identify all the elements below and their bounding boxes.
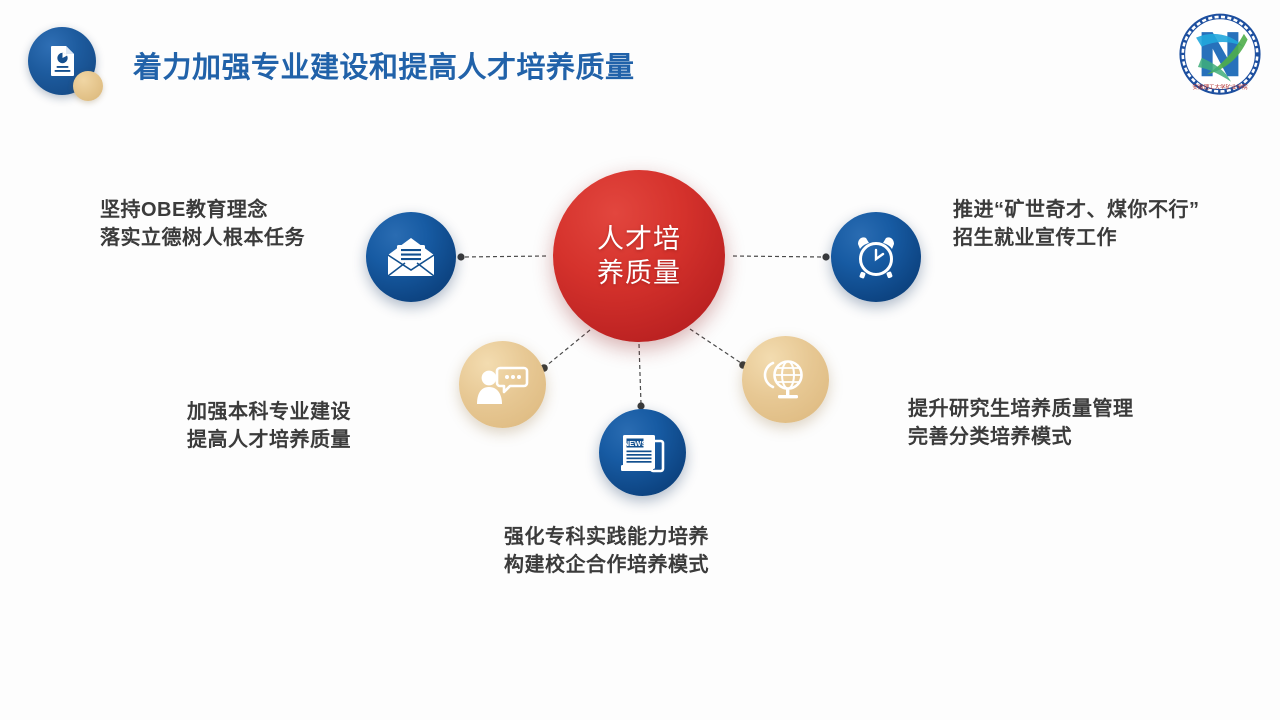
hub-spoke-diagram: 人才培 养质量	[0, 0, 1280, 720]
node-globe-stand[interactable]	[742, 336, 829, 423]
envelope-mail-icon	[386, 236, 436, 278]
newspaper-masthead-text: NEWS	[623, 439, 646, 448]
caption-lower-right: 提升研究生培养质量管理 完善分类培养模式	[908, 395, 1134, 452]
node-alarm-clock[interactable]	[831, 212, 921, 302]
caption-left: 坚持OBE教育理念 落实立德树人根本任务	[100, 196, 305, 253]
alarm-clock-icon	[852, 233, 900, 281]
globe-stand-icon	[763, 357, 809, 403]
center-node-talent-quality[interactable]: 人才培 养质量	[553, 170, 725, 342]
report-document-icon	[50, 45, 76, 76]
node-person-speech[interactable]	[459, 341, 546, 428]
person-speech-bubble-icon	[477, 364, 529, 406]
center-node-label: 人才培 养质量	[597, 222, 681, 290]
node-newspaper[interactable]: NEWS	[599, 409, 686, 496]
caption-right: 推进“矿世奇才、煤你不行” 招生就业宣传工作	[953, 196, 1200, 253]
caption-bottom: 强化专科实践能力培养 构建校企合作培养模式	[504, 523, 709, 580]
connector-lines	[0, 0, 1280, 720]
caption-lower-left: 加强本科专业建设 提高人才培养质量	[187, 398, 351, 455]
slide-canvas: 着力加强专业建设和提高人才培养质量 安徽理工大学矿业学院	[0, 0, 1280, 720]
node-envelope-mail[interactable]	[366, 212, 456, 302]
newspaper-news-icon: NEWS	[619, 431, 667, 475]
